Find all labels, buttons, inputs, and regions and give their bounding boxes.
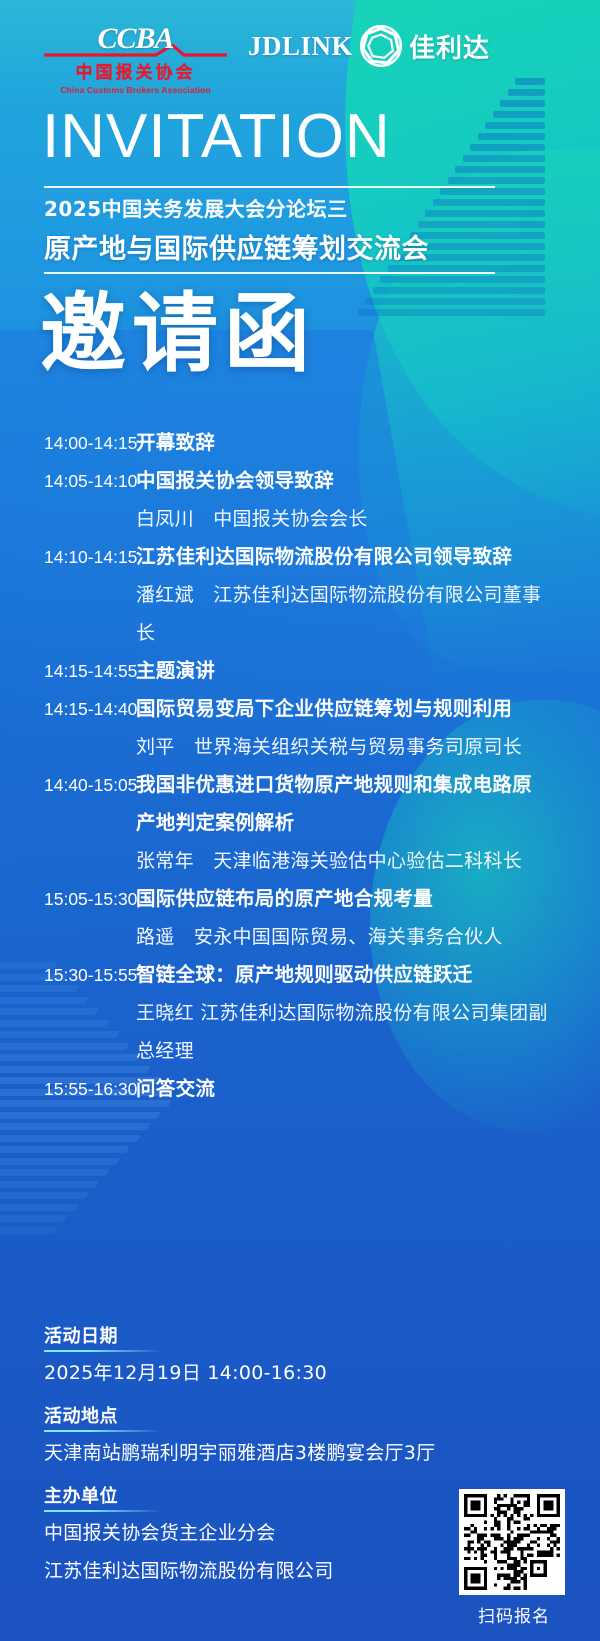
agenda-body: 国际供应链布局的原产地合规考量路遥 安永中国国际贸易、海关事务合伙人 <box>136 880 600 956</box>
agenda-title: 我国非优惠进口货物原产地规则和集成电路原产地判定案例解析 <box>136 766 548 842</box>
subtitle-line-2: 原产地与国际供应链筹划交流会 <box>44 227 429 266</box>
agenda-title: 智链全球：原产地规则驱动供应链跃迁 <box>136 956 548 994</box>
agenda-body: 问答交流 <box>136 1070 600 1108</box>
agenda-body: 我国非优惠进口货物原产地规则和集成电路原产地判定案例解析张常年 天津临港海关验估… <box>136 766 600 880</box>
invitation-poster: CCBA 中国报关协会 China Customs Brokers Associ… <box>0 0 600 1641</box>
agenda-title: 开幕致辞 <box>136 424 548 462</box>
agenda-time: 15:30-15:55 <box>0 956 136 994</box>
agenda-title: 国际贸易变局下企业供应链筹划与规则利用 <box>136 690 548 728</box>
agenda-time: 14:05-14:10 <box>0 462 136 500</box>
ccba-chinese-name: 中国报关协会 <box>48 58 223 83</box>
agenda-row: 15:05-15:30国际供应链布局的原产地合规考量路遥 安永中国国际贸易、海关… <box>0 880 600 956</box>
agenda-body: 开幕致辞 <box>136 424 600 462</box>
agenda-row: 14:40-15:05我国非优惠进口货物原产地规则和集成电路原产地判定案例解析张… <box>0 766 600 880</box>
agenda-speaker: 路遥 安永中国国际贸易、海关事务合伙人 <box>136 918 548 956</box>
agenda-speaker: 白凤川 中国报关协会会长 <box>136 500 548 538</box>
agenda-body: 中国报关协会领导致辞白凤川 中国报关协会会长 <box>136 462 600 538</box>
agenda-title: 国际供应链布局的原产地合规考量 <box>136 880 548 918</box>
jdlink-chinese-name: 佳利达 <box>409 28 490 65</box>
agenda-time: 14:15-14:55 <box>0 652 136 690</box>
divider-bottom <box>44 272 495 274</box>
agenda-time: 14:40-15:05 <box>0 766 136 804</box>
ccba-english-name: China Customs Brokers Association <box>48 85 223 95</box>
footer-section: 活动日期2025年12月19日 14:00-16:30 <box>0 1322 600 1390</box>
divider-top <box>44 186 495 188</box>
footer-section-label: 主办单位 <box>44 1482 118 1512</box>
footer-section: 活动地点天津南站鹏瑞利明宇丽雅酒店3楼鹏宴会厅3厅 <box>0 1402 600 1470</box>
qr-block: 扫码报名 <box>459 1489 569 1627</box>
agenda-row: 14:05-14:10中国报关协会领导致辞白凤川 中国报关协会会长 <box>0 462 600 538</box>
ccba-letters: CCBA <box>48 22 223 56</box>
agenda-time: 15:55-16:30 <box>0 1070 136 1108</box>
footer-section-label: 活动日期 <box>44 1322 118 1352</box>
agenda-time: 14:10-14:15 <box>0 538 136 576</box>
jdlink-logo: JDLINK 佳利达 <box>248 24 490 68</box>
agenda-body: 江苏佳利达国际物流股份有限公司领导致辞潘红斌 江苏佳利达国际物流股份有限公司董事… <box>136 538 600 652</box>
agenda-row: 14:00-14:15开幕致辞 <box>0 424 600 462</box>
qr-code-image[interactable] <box>459 1489 565 1595</box>
agenda-time: 14:00-14:15 <box>0 424 136 462</box>
ccba-logo: CCBA 中国报关协会 China Customs Brokers Associ… <box>48 22 223 95</box>
agenda-speaker: 张常年 天津临港海关验估中心验估二科科长 <box>136 842 548 880</box>
agenda-row: 15:30-15:55智链全球：原产地规则驱动供应链跃迁王晓红 江苏佳利达国际物… <box>0 956 600 1070</box>
agenda-row: 14:15-14:40国际贸易变局下企业供应链筹划与规则利用刘平 世界海关组织关… <box>0 690 600 766</box>
agenda-speaker: 刘平 世界海关组织关税与贸易事务司原司长 <box>136 728 548 766</box>
ccba-mark: CCBA <box>48 22 223 60</box>
jdlink-aperture-icon <box>359 24 403 68</box>
logo-bar: CCBA 中国报关协会 China Customs Brokers Associ… <box>0 16 600 96</box>
agenda-speaker: 王晓红 江苏佳利达国际物流股份有限公司集团副总经理 <box>136 994 548 1070</box>
qr-caption: 扫码报名 <box>459 1602 569 1627</box>
agenda-body: 智链全球：原产地规则驱动供应链跃迁王晓红 江苏佳利达国际物流股份有限公司集团副总… <box>136 956 600 1070</box>
agenda-body: 主题演讲 <box>136 652 600 690</box>
agenda-row: 14:10-14:15江苏佳利达国际物流股份有限公司领导致辞潘红斌 江苏佳利达国… <box>0 538 600 652</box>
agenda-body: 国际贸易变局下企业供应链筹划与规则利用刘平 世界海关组织关税与贸易事务司原司长 <box>136 690 600 766</box>
agenda-title: 问答交流 <box>136 1070 548 1108</box>
agenda-title: 江苏佳利达国际物流股份有限公司领导致辞 <box>136 538 548 576</box>
agenda-time: 14:15-14:40 <box>0 690 136 728</box>
jdlink-wordmark: JDLINK <box>248 31 353 62</box>
footer-section-label: 活动地点 <box>44 1402 118 1432</box>
footer-section-value: 天津南站鹏瑞利明宇丽雅酒店3楼鹏宴会厅3厅 <box>44 1437 600 1470</box>
agenda-title: 中国报关协会领导致辞 <box>136 462 548 500</box>
invitation-heading: INVITATION <box>42 106 391 168</box>
subtitle-line-1: 2025中国关务发展大会分论坛三 <box>44 193 348 222</box>
agenda-title: 主题演讲 <box>136 652 548 690</box>
agenda-list: 14:00-14:15开幕致辞14:05-14:10中国报关协会领导致辞白凤川 … <box>0 424 600 1108</box>
footer-section-value: 2025年12月19日 14:00-16:30 <box>44 1357 600 1390</box>
agenda-speaker: 潘红斌 江苏佳利达国际物流股份有限公司董事长 <box>136 576 548 652</box>
page-title: 邀请函 <box>40 286 316 381</box>
agenda-row: 14:15-14:55主题演讲 <box>0 652 600 690</box>
agenda-time: 15:05-15:30 <box>0 880 136 918</box>
agenda-row: 15:55-16:30问答交流 <box>0 1070 600 1108</box>
